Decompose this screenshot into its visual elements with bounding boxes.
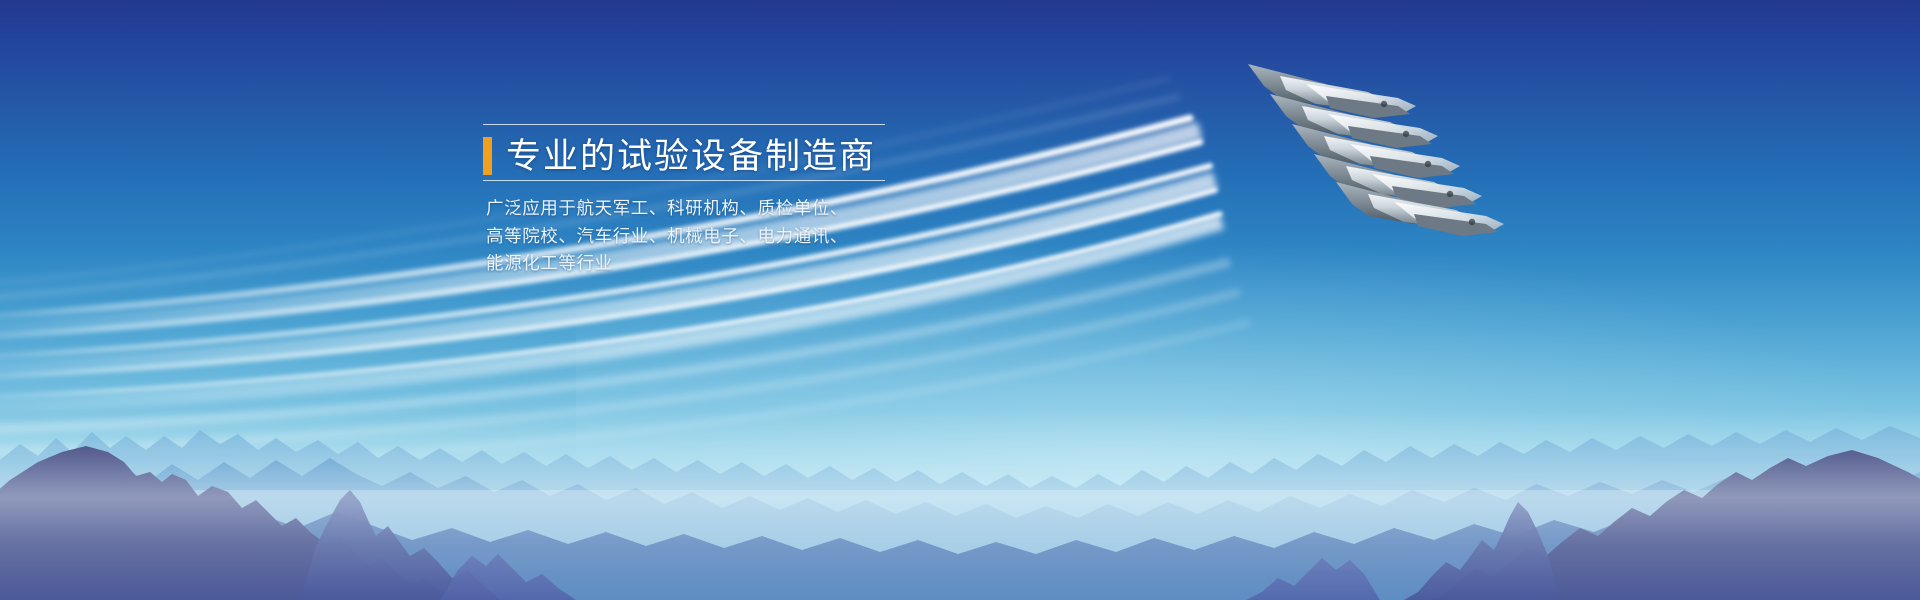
subtitle-line: 广泛应用于航天军工、科研机构、质检单位、 [486,195,1003,223]
subtitle-line: 高等院校、汽车行业、机械电子、电力通讯、 [486,223,1003,251]
divider-top [483,124,885,125]
subtitle-line: 能源化工等行业 [486,250,1003,278]
page-title: 专业的试验设备制造商 [506,139,876,174]
banner-copy-block: 专业的试验设备制造商 广泛应用于航天军工、科研机构、质检单位、 高等院校、汽车行… [483,124,1003,278]
divider-bottom [483,180,885,181]
hero-banner: 专业的试验设备制造商 广泛应用于航天军工、科研机构、质检单位、 高等院校、汽车行… [0,0,1920,600]
subtitle-block: 广泛应用于航天军工、科研机构、质检单位、 高等院校、汽车行业、机械电子、电力通讯… [486,195,1003,278]
mountain-range-group [0,340,1920,600]
headline-row: 专业的试验设备制造商 [483,137,1003,175]
jet-formation-group [1130,40,1550,270]
accent-bar [483,137,492,175]
